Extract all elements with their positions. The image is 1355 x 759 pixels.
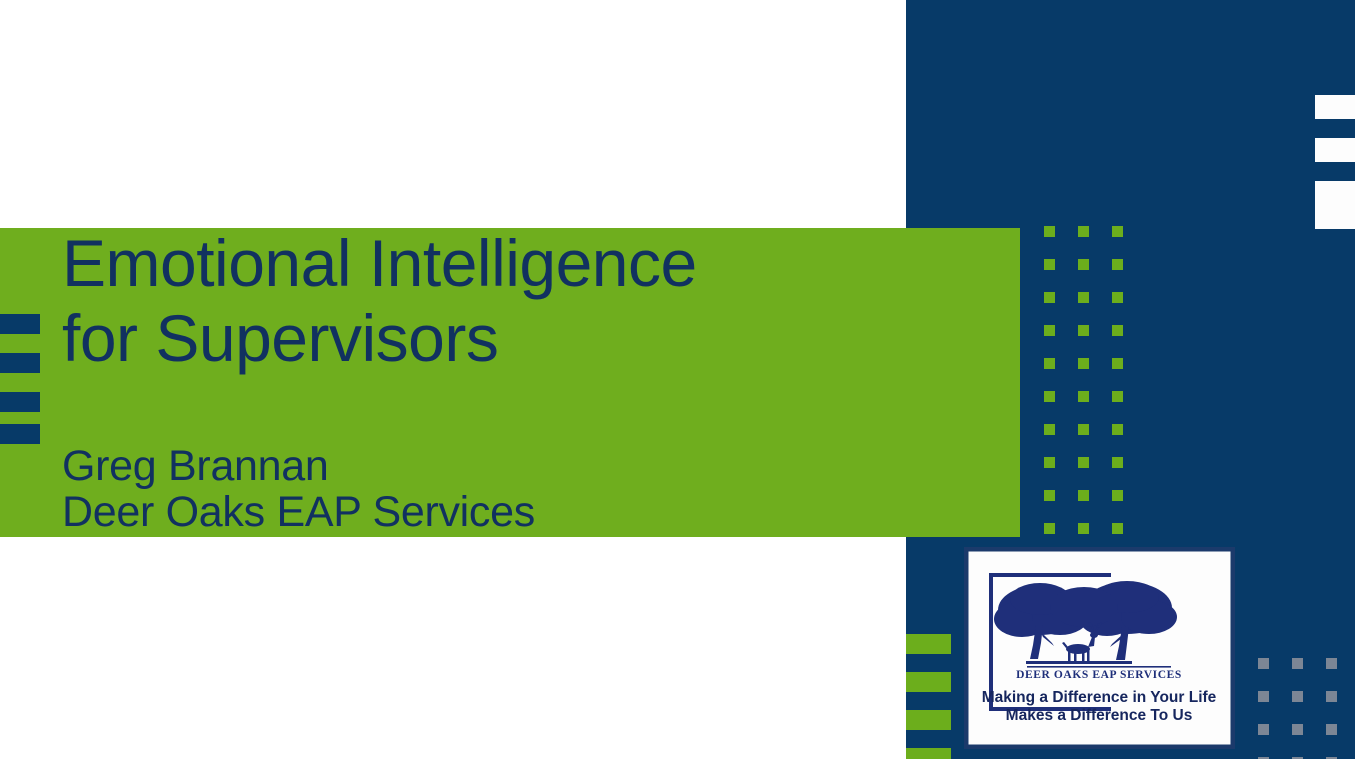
decorative-dot	[1044, 226, 1055, 237]
decorative-dot	[1078, 226, 1089, 237]
logo-brand-name: DEER OAKS EAP SERVICES	[1016, 669, 1182, 681]
decorative-dot	[1112, 358, 1123, 369]
presentation-slide: Emotional Intelligence for Supervisors G…	[0, 0, 1355, 759]
green-dot-grid	[1044, 226, 1134, 546]
decorative-dot	[1112, 490, 1123, 501]
panel-green-accent-bar	[906, 748, 951, 759]
navy-accent-bar	[0, 353, 40, 373]
gray-dot-grid	[1258, 658, 1355, 759]
slide-subtitle: Greg Brannan Deer Oaks EAP Services	[62, 443, 962, 535]
white-accent-bar	[1315, 205, 1355, 229]
decorative-dot	[1044, 523, 1055, 534]
navy-accent-bar	[0, 424, 40, 444]
navy-accent-bar	[0, 314, 40, 334]
title-line-1: Emotional Intelligence	[62, 226, 962, 301]
decorative-dot	[1044, 490, 1055, 501]
decorative-dot	[1044, 259, 1055, 270]
decorative-dot	[1078, 523, 1089, 534]
decorative-dot	[1044, 358, 1055, 369]
decorative-dot	[1078, 358, 1089, 369]
decorative-dot	[1078, 490, 1089, 501]
decorative-dot	[1112, 325, 1123, 336]
decorative-dot	[1078, 457, 1089, 468]
decorative-dot	[1078, 292, 1089, 303]
panel-green-accent-bar	[906, 710, 951, 730]
white-accent-bar	[1315, 138, 1355, 162]
decorative-dot	[1326, 724, 1337, 735]
decorative-dot	[1078, 325, 1089, 336]
decorative-dot	[1326, 691, 1337, 702]
presenter-name: Greg Brannan	[62, 443, 962, 489]
decorative-dot	[1292, 691, 1303, 702]
navy-accent-bar	[0, 392, 40, 412]
white-accent-bar	[1315, 181, 1355, 205]
decorative-dot	[1258, 691, 1269, 702]
decorative-dot	[1112, 523, 1123, 534]
decorative-dot	[1044, 424, 1055, 435]
slide-title: Emotional Intelligence for Supervisors	[62, 226, 962, 376]
decorative-dot	[1292, 658, 1303, 669]
title-line-2: for Supervisors	[62, 301, 962, 376]
white-accent-bar	[1315, 95, 1355, 119]
decorative-dot	[1112, 391, 1123, 402]
decorative-dot	[1112, 457, 1123, 468]
decorative-dot	[1258, 724, 1269, 735]
decorative-dot	[1044, 391, 1055, 402]
decorative-dot	[1258, 658, 1269, 669]
logo-tagline-line-1: Making a Difference in Your Life	[982, 689, 1217, 706]
deer-oaks-logo: DEER OAKS EAP SERVICES Making a Differen…	[964, 547, 1235, 749]
panel-green-accent-bar	[906, 672, 951, 692]
decorative-dot	[1292, 724, 1303, 735]
decorative-dot	[1078, 424, 1089, 435]
decorative-dot	[1112, 292, 1123, 303]
decorative-dot	[1044, 292, 1055, 303]
decorative-dot	[1112, 259, 1123, 270]
decorative-dot	[1078, 259, 1089, 270]
logo-tagline-line-2: Makes a Difference To Us	[1006, 707, 1193, 724]
decorative-dot	[1326, 658, 1337, 669]
decorative-dot	[1044, 325, 1055, 336]
organization-name: Deer Oaks EAP Services	[62, 489, 962, 535]
decorative-dot	[1078, 391, 1089, 402]
company-logo-card: DEER OAKS EAP SERVICES Making a Differen…	[964, 547, 1235, 749]
decorative-dot	[1044, 457, 1055, 468]
decorative-dot	[1112, 226, 1123, 237]
panel-green-accent-bar	[906, 634, 951, 654]
decorative-dot	[1112, 424, 1123, 435]
